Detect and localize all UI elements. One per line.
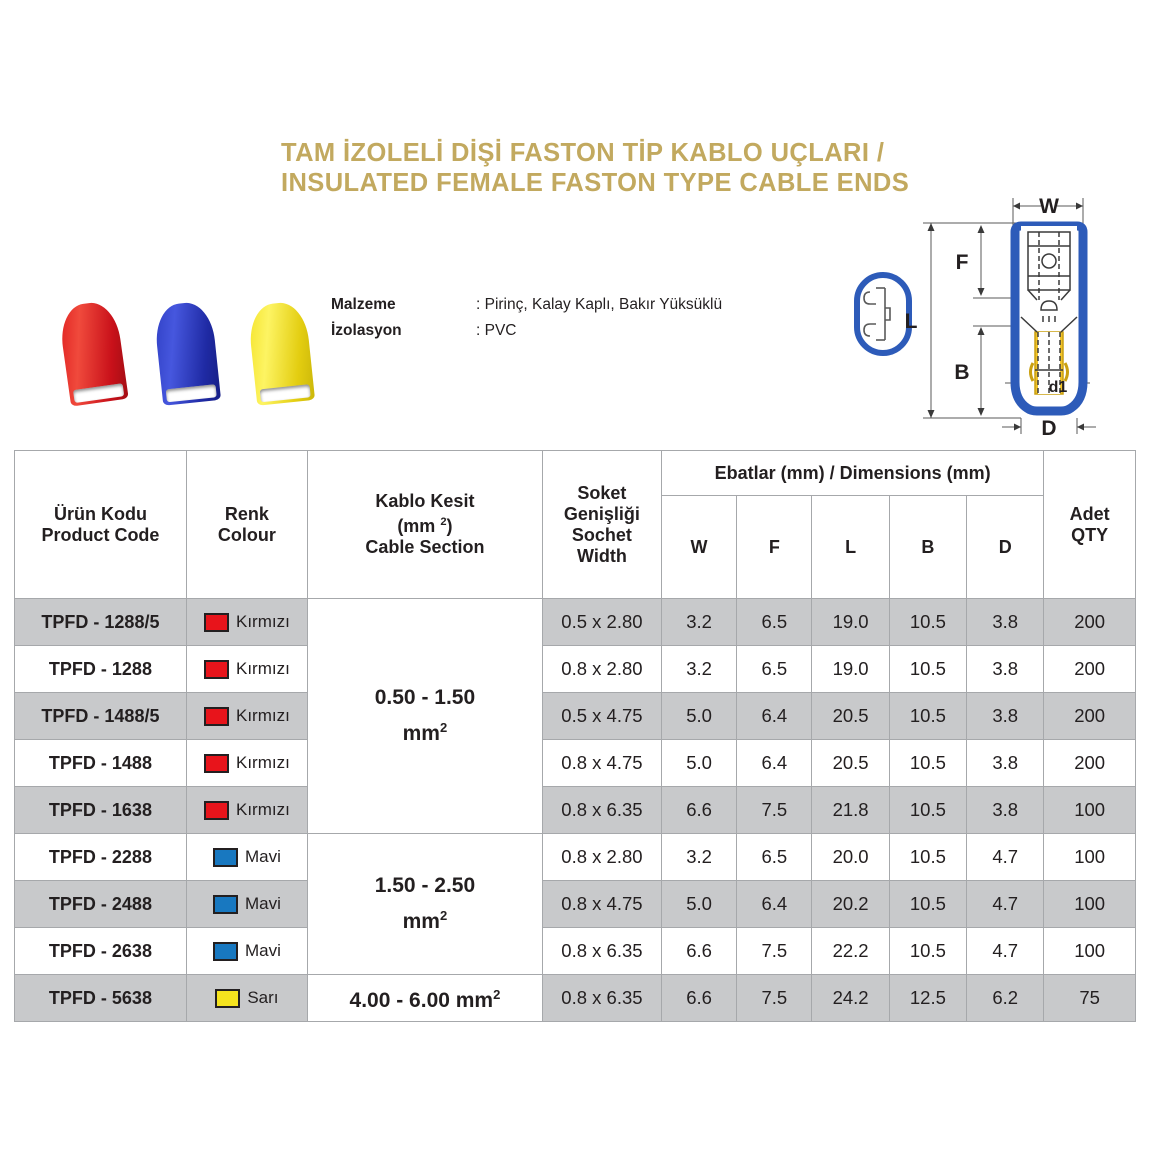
cell-qty: 100 bbox=[1044, 928, 1136, 975]
cell-dim-d: 3.8 bbox=[967, 740, 1044, 787]
cell-socket-width: 0.8 x 4.75 bbox=[542, 881, 661, 928]
cell-product-code: TPFD - 2288 bbox=[15, 834, 187, 881]
cell-product-code: TPFD - 1488/5 bbox=[15, 693, 187, 740]
cell-socket-width: 0.8 x 6.35 bbox=[542, 975, 661, 1022]
cell-dim-f: 7.5 bbox=[737, 787, 812, 834]
cell-qty: 200 bbox=[1044, 740, 1136, 787]
cell-socket-width: 0.5 x 2.80 bbox=[542, 599, 661, 646]
header-socket-width-en1: Sochet bbox=[543, 525, 661, 546]
header-dim-f: F bbox=[737, 496, 812, 599]
cell-dim-w: 6.6 bbox=[661, 787, 736, 834]
table-row: TPFD - 1638Kırmızı0.8 x 6.356.67.521.810… bbox=[15, 787, 1136, 834]
label-w: W bbox=[1039, 195, 1059, 218]
cell-qty: 75 bbox=[1044, 975, 1136, 1022]
cell-dim-d: 3.8 bbox=[967, 646, 1044, 693]
header-dim-b: B bbox=[889, 496, 966, 599]
cell-dim-b: 12.5 bbox=[889, 975, 966, 1022]
header-product-code: Ürün Kodu Product Code bbox=[15, 451, 187, 599]
header-dim-w: W bbox=[661, 496, 736, 599]
cell-socket-width: 0.5 x 4.75 bbox=[542, 693, 661, 740]
colour-label: Mavi bbox=[245, 847, 281, 867]
cell-qty: 200 bbox=[1044, 646, 1136, 693]
cell-socket-width: 0.8 x 2.80 bbox=[542, 646, 661, 693]
cell-qty: 100 bbox=[1044, 787, 1136, 834]
cell-dim-d: 3.8 bbox=[967, 693, 1044, 740]
cell-colour: Kırmızı bbox=[186, 787, 307, 834]
cable-section-range: 1.50 - 2.50 bbox=[308, 871, 542, 901]
cell-colour: Mavi bbox=[186, 881, 307, 928]
cell-dim-w: 6.6 bbox=[661, 975, 736, 1022]
colour-label: Kırmızı bbox=[236, 659, 290, 679]
header-product-code-en: Product Code bbox=[15, 525, 186, 546]
table-row: TPFD - 1288Kırmızı0.8 x 2.803.26.519.010… bbox=[15, 646, 1136, 693]
cell-dim-l: 22.2 bbox=[812, 928, 889, 975]
colour-swatch-blue bbox=[213, 895, 238, 914]
specifications-table: Ürün Kodu Product Code Renk Colour Kablo… bbox=[14, 450, 1136, 1022]
material-spec: Malzeme : Pirinç, Kalay Kaplı, Bakır Yük… bbox=[331, 292, 722, 344]
header-qty-tr: Adet bbox=[1044, 504, 1135, 525]
cell-product-code: TPFD - 1288 bbox=[15, 646, 187, 693]
table-row: TPFD - 1488/5Kırmızı0.5 x 4.755.06.420.5… bbox=[15, 693, 1136, 740]
cell-socket-width: 0.8 x 6.35 bbox=[542, 928, 661, 975]
cell-product-code: TPFD - 2488 bbox=[15, 881, 187, 928]
header-socket-width: Soket Genişliği Sochet Width bbox=[542, 451, 661, 599]
cell-product-code: TPFD - 5638 bbox=[15, 975, 187, 1022]
cell-dim-l: 21.8 bbox=[812, 787, 889, 834]
cell-socket-width: 0.8 x 4.75 bbox=[542, 740, 661, 787]
colour-label: Mavi bbox=[245, 894, 281, 914]
cell-product-code: TPFD - 1488 bbox=[15, 740, 187, 787]
colour-label: Mavi bbox=[245, 941, 281, 961]
cell-colour: Kırmızı bbox=[186, 740, 307, 787]
cell-colour: Kırmızı bbox=[186, 599, 307, 646]
cell-dim-l: 19.0 bbox=[812, 599, 889, 646]
cell-dim-b: 10.5 bbox=[889, 881, 966, 928]
cell-dim-l: 20.2 bbox=[812, 881, 889, 928]
cell-dim-f: 6.5 bbox=[737, 834, 812, 881]
cell-dim-w: 3.2 bbox=[661, 646, 736, 693]
blue-ferrule-photo bbox=[153, 300, 221, 406]
label-d1: d1 bbox=[1049, 379, 1068, 396]
colour-swatch-red bbox=[204, 707, 229, 726]
page-title: TAM İZOLELİ DİŞİ FASTON TİP KABLO UÇLARI… bbox=[281, 138, 901, 198]
cell-dim-d: 4.7 bbox=[967, 881, 1044, 928]
cell-socket-width: 0.8 x 6.35 bbox=[542, 787, 661, 834]
colour-swatch-red bbox=[204, 613, 229, 632]
cell-cable-section: 4.00 - 6.00 mm2 bbox=[307, 975, 542, 1022]
colour-swatch-red bbox=[204, 754, 229, 773]
colour-swatch-red bbox=[204, 660, 229, 679]
yellow-ferrule-photo bbox=[247, 300, 315, 406]
cell-product-code: TPFD - 1638 bbox=[15, 787, 187, 834]
colour-label: Kırmızı bbox=[236, 706, 290, 726]
header-qty-en: QTY bbox=[1044, 525, 1135, 546]
cell-dim-b: 10.5 bbox=[889, 646, 966, 693]
spec-label-insulation: İzolasyon bbox=[331, 318, 476, 344]
cell-colour: Kırmızı bbox=[186, 693, 307, 740]
header-socket-width-en2: Width bbox=[543, 546, 661, 567]
header-qty: Adet QTY bbox=[1044, 451, 1136, 599]
cross-section-view bbox=[857, 275, 909, 353]
header-colour-tr: Renk bbox=[187, 504, 307, 525]
colour-label: Kırmızı bbox=[236, 753, 290, 773]
cell-socket-width: 0.8 x 2.80 bbox=[542, 834, 661, 881]
cell-product-code: TPFD - 1288/5 bbox=[15, 599, 187, 646]
header-cable-section: Kablo Kesit (mm 2) Cable Section bbox=[307, 451, 542, 599]
header-socket-width-tr1: Soket bbox=[543, 483, 661, 504]
label-l: L bbox=[905, 310, 918, 333]
title-line-turkish: TAM İZOLELİ DİŞİ FASTON TİP KABLO UÇLARI… bbox=[281, 138, 901, 168]
title-line-english: INSULATED FEMALE FASTON TYPE CABLE ENDS bbox=[281, 168, 901, 198]
cell-dim-b: 10.5 bbox=[889, 834, 966, 881]
spec-value-insulation: : PVC bbox=[476, 318, 516, 344]
cell-dim-f: 6.4 bbox=[737, 693, 812, 740]
product-photos bbox=[62, 268, 312, 403]
cable-section-unit: mm2 bbox=[308, 901, 542, 937]
cell-qty: 100 bbox=[1044, 834, 1136, 881]
cell-product-code: TPFD - 2638 bbox=[15, 928, 187, 975]
header-dimensions-group: Ebatlar (mm) / Dimensions (mm) bbox=[661, 451, 1043, 496]
cell-dim-d: 3.8 bbox=[967, 787, 1044, 834]
cell-dim-w: 5.0 bbox=[661, 693, 736, 740]
table-row: TPFD - 2288Mavi1.50 - 2.50mm20.8 x 2.803… bbox=[15, 834, 1136, 881]
header-cable-section-tr: Kablo Kesit bbox=[308, 491, 542, 512]
cell-dim-l: 24.2 bbox=[812, 975, 889, 1022]
cell-dim-f: 6.5 bbox=[737, 646, 812, 693]
spec-row-material: Malzeme : Pirinç, Kalay Kaplı, Bakır Yük… bbox=[331, 292, 722, 318]
colour-label: Sarı bbox=[247, 988, 278, 1008]
table-row: TPFD - 1488Kırmızı0.8 x 4.755.06.420.510… bbox=[15, 740, 1136, 787]
table-row: TPFD - 2638Mavi0.8 x 6.356.67.522.210.54… bbox=[15, 928, 1136, 975]
label-f: F bbox=[956, 251, 969, 274]
colour-swatch-blue bbox=[213, 942, 238, 961]
cell-qty: 200 bbox=[1044, 599, 1136, 646]
header-colour-en: Colour bbox=[187, 525, 307, 546]
colour-label: Kırmızı bbox=[236, 612, 290, 632]
cable-section-unit: mm2 bbox=[308, 713, 542, 749]
header-socket-width-tr2: Genişliği bbox=[543, 504, 661, 525]
cell-dim-w: 3.2 bbox=[661, 834, 736, 881]
cell-dim-d: 4.7 bbox=[967, 928, 1044, 975]
cell-dim-b: 10.5 bbox=[889, 787, 966, 834]
technical-drawing: W F L B D d1 bbox=[845, 180, 1145, 442]
cell-dim-d: 3.8 bbox=[967, 599, 1044, 646]
colour-swatch-blue bbox=[213, 848, 238, 867]
cell-dim-f: 6.4 bbox=[737, 881, 812, 928]
header-cable-section-en: Cable Section bbox=[308, 537, 542, 558]
cell-colour: Mavi bbox=[186, 928, 307, 975]
cell-dim-w: 6.6 bbox=[661, 928, 736, 975]
cell-dim-l: 20.5 bbox=[812, 693, 889, 740]
cell-dim-l: 20.5 bbox=[812, 740, 889, 787]
cell-dim-w: 3.2 bbox=[661, 599, 736, 646]
cable-section-range: 0.50 - 1.50 bbox=[308, 683, 542, 713]
header-product-code-tr: Ürün Kodu bbox=[15, 504, 186, 525]
cell-cable-section: 1.50 - 2.50mm2 bbox=[307, 834, 542, 975]
cell-colour: Kırmızı bbox=[186, 646, 307, 693]
red-ferrule-photo bbox=[57, 299, 128, 406]
cell-dim-f: 7.5 bbox=[737, 975, 812, 1022]
table-body: TPFD - 1288/5Kırmızı0.50 - 1.50mm20.5 x … bbox=[15, 599, 1136, 1022]
spec-label-material: Malzeme bbox=[331, 292, 476, 318]
cell-dim-d: 6.2 bbox=[967, 975, 1044, 1022]
cell-dim-f: 7.5 bbox=[737, 928, 812, 975]
cell-dim-b: 10.5 bbox=[889, 693, 966, 740]
cell-dim-l: 19.0 bbox=[812, 646, 889, 693]
cell-cable-section: 0.50 - 1.50mm2 bbox=[307, 599, 542, 834]
header-dim-d: D bbox=[967, 496, 1044, 599]
cell-dim-f: 6.5 bbox=[737, 599, 812, 646]
cell-dim-f: 6.4 bbox=[737, 740, 812, 787]
cell-dim-b: 10.5 bbox=[889, 599, 966, 646]
colour-label: Kırmızı bbox=[236, 800, 290, 820]
cell-dim-b: 10.5 bbox=[889, 740, 966, 787]
table-row: TPFD - 2488Mavi0.8 x 4.755.06.420.210.54… bbox=[15, 881, 1136, 928]
cable-section-label: 4.00 - 6.00 mm2 bbox=[350, 989, 501, 1012]
cell-colour: Sarı bbox=[186, 975, 307, 1022]
label-b: B bbox=[954, 361, 969, 384]
cell-qty: 100 bbox=[1044, 881, 1136, 928]
header-dim-l: L bbox=[812, 496, 889, 599]
spec-value-material: : Pirinç, Kalay Kaplı, Bakır Yüksüklü bbox=[476, 292, 722, 318]
table-row: TPFD - 5638Sarı4.00 - 6.00 mm20.8 x 6.35… bbox=[15, 975, 1136, 1022]
cell-dim-w: 5.0 bbox=[661, 881, 736, 928]
cell-dim-d: 4.7 bbox=[967, 834, 1044, 881]
cell-dim-b: 10.5 bbox=[889, 928, 966, 975]
header-cable-section-unit: (mm 2) bbox=[308, 512, 542, 537]
colour-swatch-yellow bbox=[215, 989, 240, 1008]
table-row: TPFD - 1288/5Kırmızı0.50 - 1.50mm20.5 x … bbox=[15, 599, 1136, 646]
header-colour: Renk Colour bbox=[186, 451, 307, 599]
cell-colour: Mavi bbox=[186, 834, 307, 881]
label-d: D bbox=[1041, 417, 1056, 440]
cell-qty: 200 bbox=[1044, 693, 1136, 740]
spec-row-insulation: İzolasyon : PVC bbox=[331, 318, 722, 344]
cell-dim-w: 5.0 bbox=[661, 740, 736, 787]
cell-dim-l: 20.0 bbox=[812, 834, 889, 881]
colour-swatch-red bbox=[204, 801, 229, 820]
